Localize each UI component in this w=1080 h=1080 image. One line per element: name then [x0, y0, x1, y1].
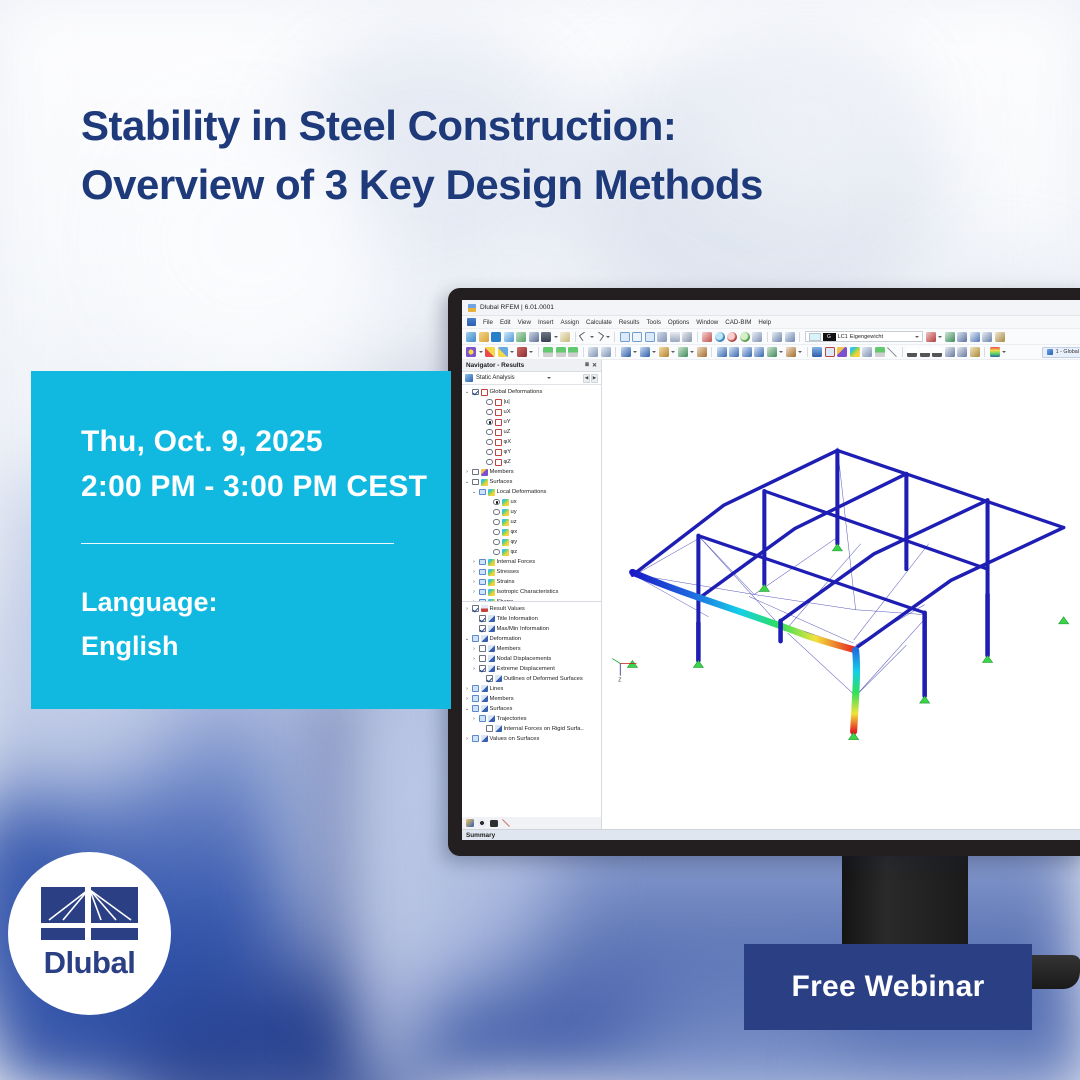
arc-caret[interactable]: [510, 351, 514, 353]
tree-item[interactable]: ›Strains: [462, 577, 601, 587]
show-surfaces-icon[interactable]: [825, 347, 835, 357]
tree-radio[interactable]: [486, 399, 493, 406]
tree-item[interactable]: ›Internal Forces: [462, 557, 601, 567]
tree-item-label: Trajectories: [497, 716, 527, 722]
line-icon[interactable]: [485, 347, 495, 357]
tree-item[interactable]: ›Stresses: [462, 567, 601, 577]
page-title: Stability in Steel Construction: Overvie…: [81, 96, 763, 214]
tree-item-icon: [495, 449, 502, 456]
visibility-icon[interactable]: [478, 819, 486, 827]
new-model-icon[interactable]: [466, 332, 476, 342]
tree-item-label: Outlines of Deformed Surfaces: [504, 676, 583, 682]
load-case-select[interactable]: G LC1 Eigengewicht: [805, 331, 924, 342]
zoom-fit-icon[interactable]: [740, 332, 750, 342]
tree-checkbox[interactable]: [479, 589, 486, 596]
tree-item[interactable]: φY: [462, 447, 601, 457]
tree-item-icon: [488, 569, 495, 576]
divider: [81, 543, 394, 544]
dim-angle-icon[interactable]: [957, 347, 967, 357]
load-free-icon[interactable]: [678, 347, 688, 357]
undo-icon[interactable]: [579, 332, 589, 342]
menu-item-assign[interactable]: Assign: [560, 319, 579, 326]
support-line-icon[interactable]: [556, 347, 566, 357]
tree-item-icon: [495, 429, 502, 436]
tree-item-icon: [481, 389, 488, 396]
tree-item-icon: [481, 635, 488, 642]
tree-item[interactable]: ›Members: [462, 467, 601, 477]
open-folder-icon[interactable]: [479, 332, 489, 342]
menu-item-cad-bim[interactable]: CAD-BIM: [725, 319, 751, 326]
tree-checkbox[interactable]: [472, 735, 479, 742]
tree-item-label: Max/Min Information: [497, 626, 550, 632]
tree-item-icon: [488, 589, 495, 596]
tree-item-label: Members: [497, 646, 521, 652]
tree-item-icon: [502, 519, 509, 526]
line-display-icon[interactable]: [887, 347, 897, 357]
menu-item-file[interactable]: File: [483, 319, 493, 326]
display-properties-tree[interactable]: ›Result ValuesTitle InformationMax/Min I…: [462, 601, 601, 818]
tree-item-icon: [488, 615, 495, 622]
free-webinar-label: Free Webinar: [791, 970, 984, 1004]
close-icon[interactable]: ✕: [592, 362, 597, 369]
load-nodal-caret[interactable]: [633, 351, 637, 353]
tree-item[interactable]: φx: [462, 527, 601, 537]
tree-item[interactable]: ›Nodal Displacements: [462, 654, 601, 664]
window-tile-icon[interactable]: [645, 332, 655, 342]
tree-item[interactable]: ›Members: [462, 694, 601, 704]
undo-dropdown-caret[interactable]: [590, 336, 594, 338]
tree-item[interactable]: uZ: [462, 427, 601, 437]
app-title-text: Dlubal RFEM | 6.01.0001: [480, 304, 554, 311]
diagram-icon[interactable]: [982, 332, 992, 342]
redo-dropdown-caret[interactable]: [606, 336, 610, 338]
tree-item[interactable]: uX: [462, 407, 601, 417]
coordinate-system-label: 1 - Global: [1056, 349, 1079, 355]
expander-collapse-icon[interactable]: ⌄: [464, 706, 470, 712]
tree-item-label: φx: [511, 529, 518, 535]
tree-checkbox[interactable]: [472, 469, 479, 476]
tree-checkbox[interactable]: [472, 479, 479, 486]
tree-item-label: Isotropic Characteristics: [497, 589, 559, 595]
dim-radial-icon[interactable]: [945, 347, 955, 357]
tree-item-label: φy: [511, 539, 518, 545]
tree-item-label: Internal Forces: [497, 559, 536, 565]
support-forces-caret[interactable]: [938, 336, 942, 338]
tree-item-icon: [495, 675, 502, 682]
tree-item[interactable]: ›Members: [462, 644, 601, 654]
zoom-window-icon[interactable]: [752, 332, 762, 342]
load-nodal-icon[interactable]: [621, 347, 631, 357]
workspace: Navigator - Results ⧈ ✕ Static Analysis …: [462, 360, 1080, 829]
print-dropdown-caret[interactable]: [554, 336, 558, 338]
member-result-icon[interactable]: [957, 332, 967, 342]
tree-checkbox[interactable]: [486, 725, 493, 732]
rfem-app-icon: [468, 304, 476, 312]
tree-item-label: φZ: [504, 459, 511, 465]
tree-item[interactable]: ux: [462, 497, 601, 507]
deformation-icon[interactable]: [970, 332, 980, 342]
expander-collapse-icon[interactable]: ⌄: [464, 479, 470, 485]
tree-item-icon: [481, 479, 488, 486]
tree-item-icon: [495, 439, 502, 446]
event-time: 2:00 PM - 3:00 PM CEST: [81, 464, 451, 509]
tree-radio[interactable]: [486, 459, 493, 466]
node-icon[interactable]: [466, 347, 476, 357]
load-case-name: Eigengewicht: [850, 334, 883, 340]
tree-item-icon: [488, 715, 495, 722]
tree-item-label: Surfaces: [490, 706, 513, 712]
tree-item-icon: [488, 579, 495, 586]
tree-item-icon: [502, 539, 509, 546]
release-icon[interactable]: [601, 347, 611, 357]
expander-expand-icon[interactable]: ›: [471, 569, 477, 575]
app-menu-icon: [467, 318, 476, 326]
material-caret[interactable]: [779, 351, 783, 353]
tree-item-label: Members: [490, 696, 514, 702]
tree-radio[interactable]: [486, 429, 493, 436]
event-info-card: Thu, Oct. 9, 2025 2:00 PM - 3:00 PM CEST…: [31, 371, 451, 709]
nodal-result-icon[interactable]: [945, 332, 955, 342]
tree-item-icon: [495, 409, 502, 416]
tree-item-icon: [488, 645, 495, 652]
toolbar-primary[interactable]: G LC1 Eigengewicht: [462, 329, 1080, 345]
cloud-icon[interactable]: [504, 332, 514, 342]
dim-aligned-icon[interactable]: [932, 347, 942, 357]
tree-item[interactable]: uY: [462, 417, 601, 427]
menu-item-results[interactable]: Results: [619, 319, 640, 326]
menu-item-tools[interactable]: Tools: [646, 319, 660, 326]
results-tree[interactable]: ⌄Global Deformations|u|uXuYuZφXφYφZ›Memb…: [462, 385, 601, 601]
load-line-caret[interactable]: [652, 351, 656, 353]
expander-expand-icon[interactable]: ›: [471, 589, 477, 595]
tree-item[interactable]: |u|: [462, 397, 601, 407]
navigator-panel: Navigator - Results ⧈ ✕ Static Analysis …: [462, 360, 602, 829]
summary-panel: Summary Go To Edit Selection View Settin…: [462, 829, 1080, 840]
tree-item-label: Nodal Displacements: [497, 656, 552, 662]
tree-checkbox[interactable]: [472, 605, 479, 612]
tree-item-label: Stresses: [497, 569, 520, 575]
deformed-structure-render: Z: [602, 360, 1080, 829]
menu-item-calculate[interactable]: Calculate: [586, 319, 612, 326]
tree-checkbox[interactable]: [472, 389, 479, 396]
expander-expand-icon[interactable]: ›: [471, 666, 477, 672]
tree-item-label: uX: [504, 409, 511, 415]
analysis-dropdown-caret[interactable]: [547, 377, 551, 379]
load-line-icon[interactable]: [640, 347, 650, 357]
app-titlebar: Dlubal RFEM | 6.01.0001: [462, 300, 1080, 316]
support-node-icon[interactable]: [543, 347, 553, 357]
window-split-icon[interactable]: [632, 332, 642, 342]
tree-item[interactable]: φz: [462, 547, 601, 557]
tree-checkbox[interactable]: [479, 715, 486, 722]
tree-item-label: φz: [511, 549, 518, 555]
tree-item[interactable]: ›Isotropic Characteristics: [462, 587, 601, 597]
menu-bar[interactable]: File Edit View Insert Assign Calculate R…: [462, 316, 1080, 329]
tree-item[interactable]: ⌄Surfaces: [462, 477, 601, 487]
tree-item-icon: [495, 399, 502, 406]
navigator-header: Navigator - Results ⧈ ✕: [462, 360, 601, 372]
table-view-icon[interactable]: [670, 332, 680, 342]
tree-checkbox[interactable]: [479, 665, 486, 672]
tree-item-icon: [502, 499, 509, 506]
tree-radio[interactable]: [486, 449, 493, 456]
tree-item-label: Values on Surfaces: [490, 736, 540, 742]
tree-item[interactable]: ›Extreme Displacement: [462, 664, 601, 674]
tree-item[interactable]: ›Values on Surfaces: [462, 734, 601, 744]
dim-vertical-icon[interactable]: [920, 347, 930, 357]
tree-item-icon: [502, 509, 509, 516]
tree-item-icon: [495, 459, 502, 466]
tree-item-icon: [481, 705, 488, 712]
load-case-dropdown-caret[interactable]: [915, 336, 919, 338]
member-caret[interactable]: [529, 351, 533, 353]
show-members-icon[interactable]: [837, 347, 847, 357]
menu-item-options[interactable]: Options: [668, 319, 689, 326]
filter-icon[interactable]: [812, 347, 822, 357]
print-icon[interactable]: [541, 332, 551, 342]
tree-item-icon: [488, 559, 495, 566]
tree-item[interactable]: uy: [462, 507, 601, 517]
free-webinar-button[interactable]: Free Webinar: [744, 944, 1032, 1030]
load-case-flag: G: [823, 333, 836, 341]
tree-item-label: Strains: [497, 579, 515, 585]
show-results-icon[interactable]: [850, 347, 860, 357]
language-value: English: [81, 624, 451, 668]
title-line-1: Stability in Steel Construction:: [81, 102, 676, 149]
tree-item-label: uZ: [504, 429, 511, 435]
tree-item-label: Members: [490, 469, 514, 475]
dlubal-logo-badge: Dlubal: [8, 852, 171, 1015]
tree-radio[interactable]: [486, 409, 493, 416]
menu-item-edit[interactable]: Edit: [500, 319, 511, 326]
menu-item-window[interactable]: Window: [696, 319, 718, 326]
tree-item-label: Internal Forces on Rigid Surfa..: [504, 726, 584, 732]
blocks-icon[interactable]: [516, 332, 526, 342]
tree-item-label: Lines: [490, 686, 504, 692]
monitor-bezel: Dlubal RFEM | 6.01.0001 File Edit View I…: [448, 288, 1080, 856]
expander-expand-icon[interactable]: ›: [471, 559, 477, 565]
arc-icon[interactable]: [498, 347, 508, 357]
expander-collapse-icon[interactable]: ⌄: [464, 389, 470, 395]
expander-expand-icon[interactable]: ›: [471, 656, 477, 662]
tree-item-icon: [488, 625, 495, 632]
printout-report-icon[interactable]: [560, 332, 570, 342]
color-scale-caret[interactable]: [1002, 351, 1006, 353]
optimize-icon[interactable]: [754, 347, 764, 357]
analysis-next-button[interactable]: ▶: [591, 374, 598, 383]
tree-radio[interactable]: [493, 509, 500, 516]
tree-item[interactable]: Title Information: [462, 614, 601, 624]
expander-expand-icon[interactable]: ›: [464, 736, 470, 742]
tree-item[interactable]: φX: [462, 437, 601, 447]
expander-expand-icon[interactable]: ›: [471, 716, 477, 722]
tree-item[interactable]: ⌄Surfaces: [462, 704, 601, 714]
render-view-icon[interactable]: [657, 332, 667, 342]
section-caret[interactable]: [798, 351, 802, 353]
tree-item[interactable]: ⌄Deformation: [462, 634, 601, 644]
toolbar-secondary[interactable]: 1 - Global: [462, 345, 1080, 360]
support-forces-icon[interactable]: [926, 332, 936, 342]
section-icon[interactable]: [786, 347, 796, 357]
menu-item-insert[interactable]: Insert: [538, 319, 553, 326]
expander-expand-icon[interactable]: ›: [464, 696, 470, 702]
dlubal-center-icon[interactable]: [491, 332, 501, 342]
align-left-icon[interactable]: [772, 332, 782, 342]
tree-item-icon: [488, 665, 495, 672]
analysis-icon: [465, 374, 473, 382]
expander-collapse-icon[interactable]: ⌄: [471, 489, 477, 495]
analysis-prev-button[interactable]: ◀: [583, 374, 590, 383]
support-surface-icon[interactable]: [568, 347, 578, 357]
load-surface-icon[interactable]: [659, 347, 669, 357]
tree-item-icon: [481, 469, 488, 476]
tree-item-icon: [481, 605, 488, 612]
tree-item-icon: [502, 549, 509, 556]
tree-radio[interactable]: [493, 549, 500, 556]
material-icon[interactable]: [767, 347, 777, 357]
load-case-id: LC1: [838, 334, 848, 340]
tree-item-icon: [495, 419, 502, 426]
tree-radio[interactable]: [493, 529, 500, 536]
tree-item-label: Result Values: [490, 606, 525, 612]
analysis-type-select[interactable]: Static Analysis ◀ ▶: [462, 372, 601, 385]
global-axes-icon: [1047, 349, 1053, 355]
tree-checkbox[interactable]: [472, 685, 479, 692]
tree-item-label: Global Deformations: [490, 389, 543, 395]
tree-item-icon: [488, 655, 495, 662]
member-icon[interactable]: [517, 347, 527, 357]
expander-expand-icon[interactable]: ›: [471, 646, 477, 652]
render-mode-icon[interactable]: [862, 347, 872, 357]
dlubal-wordmark: Dlubal: [44, 945, 136, 981]
hinge-icon[interactable]: [588, 347, 598, 357]
tree-checkbox[interactable]: [479, 599, 486, 601]
tree-item-icon: [488, 489, 495, 496]
tree-item-label: Local Deformations: [497, 489, 547, 495]
expander-expand-icon[interactable]: ›: [464, 606, 470, 612]
tree-item-label: Title Information: [497, 616, 538, 622]
tree-checkbox[interactable]: [479, 615, 486, 622]
tree-checkbox[interactable]: [479, 579, 486, 586]
select-tool-icon[interactable]: [702, 332, 712, 342]
camera-icon[interactable]: [490, 820, 498, 827]
align-right-icon[interactable]: [785, 332, 795, 342]
tree-checkbox[interactable]: [472, 695, 479, 702]
line-style-icon[interactable]: [502, 819, 510, 827]
tree-item-icon: [502, 529, 509, 536]
tree-item-icon: [481, 735, 488, 742]
panel-toggle-icon[interactable]: [682, 332, 692, 342]
tree-item[interactable]: ›Lines: [462, 684, 601, 694]
tree-item[interactable]: Outlines of Deformed Surfaces: [462, 674, 601, 684]
zoom-in-icon[interactable]: [715, 332, 725, 342]
tree-radio[interactable]: [486, 419, 493, 426]
expander-expand-icon[interactable]: ›: [471, 579, 477, 585]
tree-checkbox[interactable]: [479, 569, 486, 576]
color-scale-icon[interactable]: [990, 347, 1000, 357]
tree-item[interactable]: ⌄Local Deformations: [462, 487, 601, 497]
calculate-icon[interactable]: [729, 347, 739, 357]
analysis-type-label: Static Analysis: [476, 375, 515, 381]
tree-item-label: uz: [511, 519, 517, 525]
load-free-caret[interactable]: [690, 351, 694, 353]
tree-item[interactable]: Internal Forces on Rigid Surfa..: [462, 724, 601, 734]
tree-checkbox[interactable]: [486, 675, 493, 682]
tree-item-icon: [495, 725, 502, 732]
navigator-bottom-toolbar[interactable]: [462, 817, 602, 829]
mesh-icon[interactable]: [717, 347, 727, 357]
tree-checkbox[interactable]: [479, 655, 486, 662]
tree-checkbox[interactable]: [472, 705, 479, 712]
coordinate-system-chip[interactable]: 1 - Global: [1042, 347, 1080, 358]
tree-item[interactable]: ›Result Values: [462, 604, 601, 614]
tree-item[interactable]: uz: [462, 517, 601, 527]
tree-item[interactable]: ›Trajectories: [462, 714, 601, 724]
node-caret[interactable]: [479, 351, 483, 353]
tree-radio[interactable]: [493, 539, 500, 546]
window-single-icon[interactable]: [620, 332, 630, 342]
tree-item-label: φX: [504, 439, 512, 445]
tree-item-label: uy: [511, 509, 517, 515]
calculate-all-icon[interactable]: [742, 347, 752, 357]
tree-radio[interactable]: [493, 499, 500, 506]
tree-item-label: Deformation: [490, 636, 522, 642]
tree-item-icon: [481, 695, 488, 702]
zoom-out-icon[interactable]: [727, 332, 737, 342]
render-settings-icon[interactable]: [466, 819, 474, 827]
event-date: Thu, Oct. 9, 2025: [81, 419, 451, 464]
undock-icon[interactable]: ⧈: [585, 362, 589, 369]
save-icon[interactable]: [529, 332, 539, 342]
tree-checkbox[interactable]: [479, 489, 486, 496]
tree-checkbox[interactable]: [479, 559, 486, 566]
tree-checkbox[interactable]: [479, 625, 486, 632]
annotation-icon[interactable]: [970, 347, 980, 357]
tree-item[interactable]: Max/Min Information: [462, 624, 601, 634]
tree-item-label: ux: [511, 499, 517, 505]
tree-item[interactable]: ⌄Global Deformations: [462, 387, 601, 397]
load-imperfection-icon[interactable]: [697, 347, 707, 357]
redo-icon[interactable]: [595, 332, 605, 342]
load-case-color-swatch: [809, 333, 821, 341]
tree-radio[interactable]: [493, 519, 500, 526]
menu-item-help[interactable]: Help: [758, 319, 771, 326]
tree-checkbox[interactable]: [479, 645, 486, 652]
tree-item-icon: [481, 685, 488, 692]
tree-item-label: Surfaces: [490, 479, 513, 485]
dim-horizontal-icon[interactable]: [907, 347, 917, 357]
tree-item-label: |u|: [504, 399, 510, 405]
svg-text:Z: Z: [618, 678, 621, 684]
tree-item[interactable]: φy: [462, 537, 601, 547]
tree-item-label: φY: [504, 449, 512, 455]
language-label: Language:: [81, 580, 451, 624]
expander-collapse-icon[interactable]: ⌄: [464, 636, 470, 642]
title-line-2: Overview of 3 Key Design Methods: [81, 155, 763, 214]
model-3d-view[interactable]: Z: [602, 360, 1080, 829]
tree-checkbox[interactable]: [472, 635, 479, 642]
tree-item-label: Extreme Displacement: [497, 666, 555, 672]
load-surface-caret[interactable]: [671, 351, 675, 353]
expander-expand-icon[interactable]: ›: [464, 686, 470, 692]
expander-expand-icon[interactable]: ›: [464, 469, 470, 475]
tree-radio[interactable]: [486, 439, 493, 446]
result-table-icon[interactable]: [995, 332, 1005, 342]
bridge-logo-icon: [41, 887, 138, 940]
menu-item-view[interactable]: View: [518, 319, 531, 326]
support-display-icon[interactable]: [875, 347, 885, 357]
tree-item[interactable]: φZ: [462, 457, 601, 467]
